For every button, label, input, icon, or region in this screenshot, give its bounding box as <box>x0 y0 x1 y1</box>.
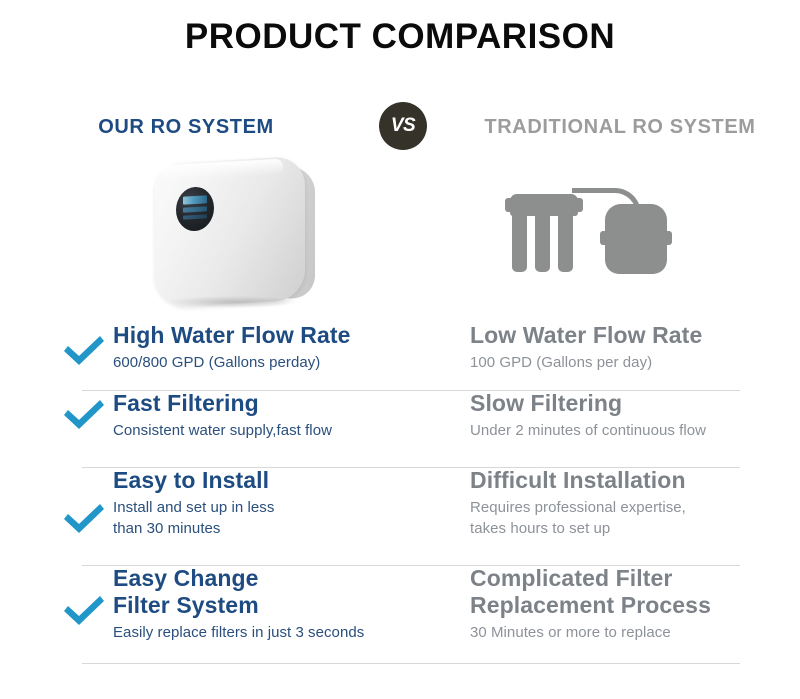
row-divider <box>82 663 740 664</box>
feature-description-line: takes hours to set up <box>470 518 780 539</box>
checkmark-icon <box>62 334 106 368</box>
feature-cell-ours: High Water Flow Rate600/800 GPD (Gallons… <box>113 322 443 373</box>
feature-cell-traditional: Complicated FilterReplacement Process30 … <box>470 565 780 643</box>
feature-heading: Easy ChangeFilter System <box>113 565 443 619</box>
feature-heading: Easy to Install <box>113 467 443 494</box>
feature-description: Install and set up in lessthan 30 minute… <box>113 497 443 539</box>
feature-heading: Fast Filtering <box>113 390 443 417</box>
comparison-rows: High Water Flow Rate600/800 GPD (Gallons… <box>0 322 800 672</box>
feature-description-line: Under 2 minutes of continuous flow <box>470 420 780 441</box>
feature-description-line: Easily replace filters in just 3 seconds <box>113 622 443 643</box>
filter-cartridge-icon <box>535 210 550 272</box>
feature-description-line: Consistent water supply,fast flow <box>113 420 443 441</box>
column-header-traditional: TRADITIONAL RO SYSTEM <box>440 116 800 139</box>
storage-tank-icon <box>605 204 667 274</box>
feature-cell-traditional: Difficult InstallationRequires professio… <box>470 467 780 539</box>
feature-description-line: Requires professional expertise, <box>470 497 780 518</box>
comparison-row: Easy to InstallInstall and set up in les… <box>0 467 800 565</box>
checkmark-icon <box>62 594 106 628</box>
product-shadow <box>167 296 299 308</box>
feature-description-line: 600/800 GPD (Gallons perday) <box>113 352 443 373</box>
page-title: PRODUCT COMPARISON <box>0 17 800 57</box>
feature-heading-line: Filter System <box>113 592 443 619</box>
feature-heading-line: Easy to Install <box>113 467 443 494</box>
checkmark-icon <box>62 398 106 432</box>
feature-heading-line: Complicated Filter <box>470 565 780 592</box>
feature-description-line: Install and set up in less <box>113 497 443 518</box>
row-divider <box>82 565 740 566</box>
feature-description: 100 GPD (Gallons per day) <box>470 352 780 373</box>
feature-description: Easily replace filters in just 3 seconds <box>113 622 443 643</box>
vs-badge: VS <box>379 102 427 150</box>
feature-heading-line: Replacement Process <box>470 592 780 619</box>
lcd-segment <box>183 206 207 212</box>
feature-heading: Slow Filtering <box>470 390 780 417</box>
feature-cell-ours: Easy ChangeFilter SystemEasily replace f… <box>113 565 443 643</box>
feature-cell-traditional: Low Water Flow Rate100 GPD (Gallons per … <box>470 322 780 373</box>
column-header-ours: OUR RO SYSTEM <box>0 116 372 139</box>
feature-description-line: 30 Minutes or more to replace <box>470 622 780 643</box>
feature-heading: Complicated FilterReplacement Process <box>470 565 780 619</box>
feature-heading: Difficult Installation <box>470 467 780 494</box>
product-image-traditional <box>492 186 692 280</box>
product-comparison-infographic: PRODUCT COMPARISON OUR RO SYSTEM VS TRAD… <box>0 0 800 699</box>
feature-cell-ours: Easy to InstallInstall and set up in les… <box>113 467 443 539</box>
feature-description: 600/800 GPD (Gallons perday) <box>113 352 443 373</box>
feature-description: 30 Minutes or more to replace <box>470 622 780 643</box>
comparison-row: Fast FilteringConsistent water supply,fa… <box>0 390 800 467</box>
feature-heading-line: Difficult Installation <box>470 467 780 494</box>
feature-heading-line: High Water Flow Rate <box>113 322 443 349</box>
feature-cell-traditional: Slow FilteringUnder 2 minutes of continu… <box>470 390 780 441</box>
filter-cartridge-icon <box>558 210 573 272</box>
product-image-ours <box>149 160 327 310</box>
feature-cell-ours: Fast FilteringConsistent water supply,fa… <box>113 390 443 441</box>
feature-heading-line: Slow Filtering <box>470 390 780 417</box>
lcd-segment <box>183 195 207 204</box>
feature-description-line: 100 GPD (Gallons per day) <box>470 352 780 373</box>
filter-cartridge-icon <box>512 210 527 272</box>
feature-heading: Low Water Flow Rate <box>470 322 780 349</box>
feature-heading-line: Low Water Flow Rate <box>470 322 780 349</box>
comparison-row: Easy ChangeFilter SystemEasily replace f… <box>0 565 800 663</box>
comparison-row: High Water Flow Rate600/800 GPD (Gallons… <box>0 322 800 390</box>
feature-description-line: than 30 minutes <box>113 518 443 539</box>
feature-heading-line: Fast Filtering <box>113 390 443 417</box>
feature-heading-line: Easy Change <box>113 565 443 592</box>
row-divider <box>82 467 740 468</box>
lcd-segment <box>183 214 207 219</box>
feature-description: Under 2 minutes of continuous flow <box>470 420 780 441</box>
checkmark-icon <box>62 502 106 536</box>
feature-description: Requires professional expertise,takes ho… <box>470 497 780 539</box>
row-divider <box>82 390 740 391</box>
feature-heading: High Water Flow Rate <box>113 322 443 349</box>
feature-description: Consistent water supply,fast flow <box>113 420 443 441</box>
